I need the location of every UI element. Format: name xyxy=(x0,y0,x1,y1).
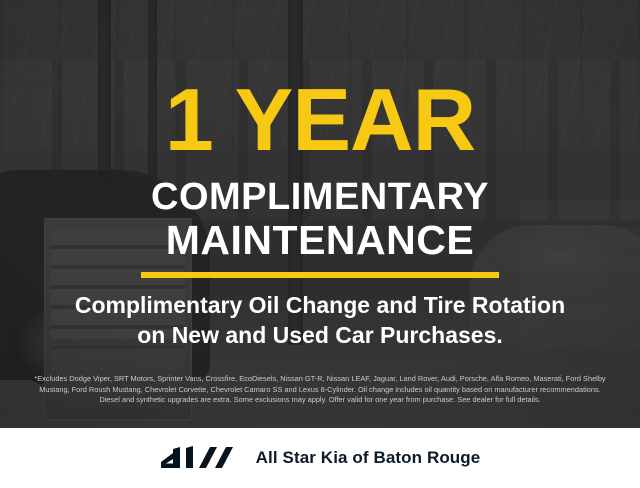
promotional-banner: 1 YEAR COMPLIMENTARY MAINTENANCE Complim… xyxy=(0,0,640,488)
dealer-name: All Star Kia of Baton Rouge xyxy=(256,448,481,468)
disclaimer-line-3: Diesel and synthetic upgrades are extra.… xyxy=(14,395,626,406)
dealer-footer: All Star Kia of Baton Rouge xyxy=(0,428,640,488)
offer-description-line-2: on New and Used Car Purchases. xyxy=(0,320,640,350)
accent-divider xyxy=(141,272,499,278)
disclaimer-line-2: Mustang, Ford Roush Mustang, Chevrolet C… xyxy=(14,385,626,396)
headline-complimentary: COMPLIMENTARY xyxy=(0,177,640,217)
headline-duration: 1 YEAR xyxy=(0,76,640,164)
legal-disclaimer: *Excludes Dodge Viper, SRT Motors, Sprin… xyxy=(14,374,626,406)
kia-logo-icon xyxy=(160,445,238,471)
offer-description: Complimentary Oil Change and Tire Rotati… xyxy=(0,290,640,350)
offer-description-line-1: Complimentary Oil Change and Tire Rotati… xyxy=(0,290,640,320)
headline-maintenance: MAINTENANCE xyxy=(0,219,640,262)
banner-content: 1 YEAR COMPLIMENTARY MAINTENANCE Complim… xyxy=(0,0,640,428)
disclaimer-line-1: *Excludes Dodge Viper, SRT Motors, Sprin… xyxy=(14,374,626,385)
